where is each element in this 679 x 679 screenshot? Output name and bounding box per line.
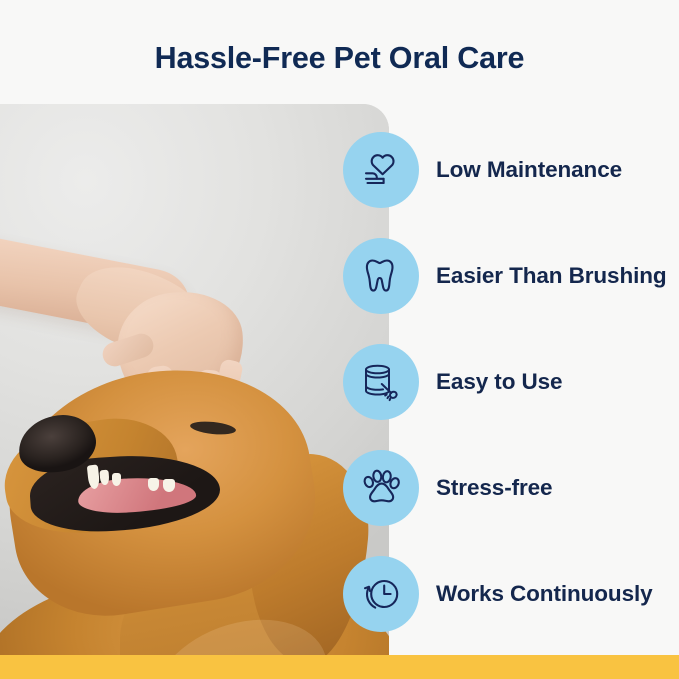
- bottom-accent-bar: [0, 655, 679, 679]
- dog-tooth: [148, 478, 159, 491]
- feature-item[interactable]: Easier Than Brushing: [343, 238, 679, 313]
- feature-label: Easier Than Brushing: [436, 262, 667, 290]
- feature-label: Easy to Use: [436, 368, 562, 396]
- feature-list: Low Maintenance Easier Than Brushing: [343, 132, 679, 662]
- clock-refresh-icon: [343, 556, 419, 632]
- infographic-root: Hassle-Free Pet Oral Care: [0, 0, 679, 679]
- paw-print-icon: [343, 450, 419, 526]
- feature-label: Stress-free: [436, 474, 552, 502]
- tooth-icon: [343, 238, 419, 314]
- feature-item[interactable]: Stress-free: [343, 450, 679, 525]
- feature-item[interactable]: Easy to Use: [343, 344, 679, 419]
- feature-label: Works Continuously: [436, 580, 653, 608]
- page-title: Hassle-Free Pet Oral Care: [0, 38, 679, 78]
- feature-item[interactable]: Low Maintenance: [343, 132, 679, 207]
- dog-tooth: [112, 473, 121, 486]
- product-photo: [0, 104, 389, 655]
- photo-background: [0, 104, 389, 655]
- feature-label: Low Maintenance: [436, 156, 622, 184]
- heart-in-hand-icon: [343, 132, 419, 208]
- feature-item[interactable]: Works Continuously: [343, 556, 679, 631]
- dog-tooth: [163, 479, 175, 492]
- jar-with-scoop-icon: [343, 344, 419, 420]
